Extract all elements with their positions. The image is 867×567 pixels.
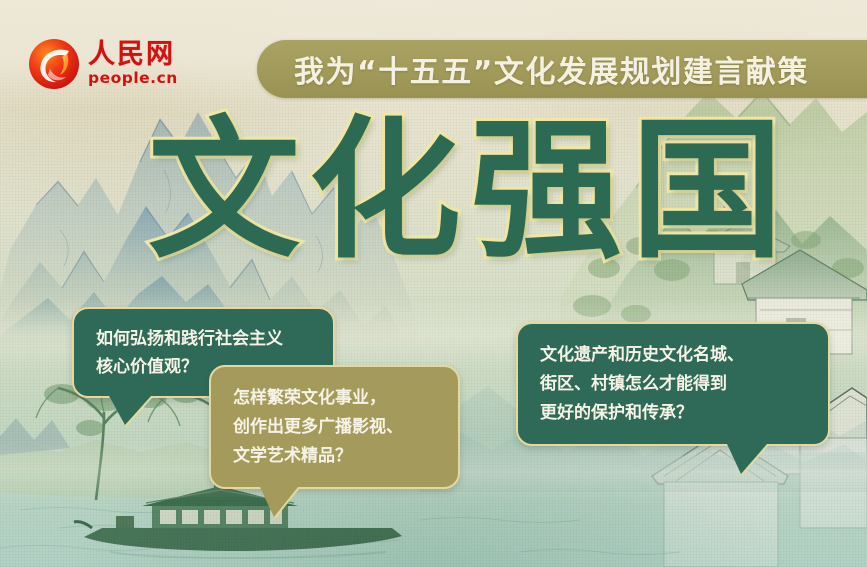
- bubble2-line2: 创作出更多广播影视、: [233, 413, 436, 442]
- question-bubble-cultural-works[interactable]: 怎样繁荣文化事业， 创作出更多广播影视、 文学艺术精品？: [209, 365, 460, 489]
- bubble3-line3: 更好的保护和传承？: [540, 399, 806, 428]
- campaign-banner-text: 我为“十五五”文化发展规划建言献策: [257, 47, 809, 91]
- publisher-logo[interactable]: 人民网 people.cn: [28, 36, 188, 92]
- bubble2-line1: 怎样繁荣文化事业，: [233, 384, 436, 413]
- people-cn-swirl-logo-icon: [28, 38, 80, 90]
- bubble3-line2: 街区、村镇怎么才能得到: [540, 370, 806, 399]
- logo-name-cn: 人民网: [88, 41, 178, 68]
- bubble3-tail: [727, 444, 767, 474]
- bubble3-line1: 文化遗产和历史文化名城、: [540, 341, 806, 370]
- bubble2-line3: 文学艺术精品？: [233, 442, 436, 471]
- campaign-banner: 我为“十五五”文化发展规划建言献策: [257, 40, 867, 98]
- bubble1-tail: [109, 396, 151, 425]
- poster-root: 人民网 people.cn 我为“十五五”文化发展规划建言献策 文化强国 如何弘…: [0, 0, 867, 567]
- question-bubble-heritage[interactable]: 文化遗产和历史文化名城、 街区、村镇怎么才能得到 更好的保护和传承？: [516, 322, 830, 446]
- bubble1-line1: 如何弘扬和践行社会主义: [96, 326, 311, 354]
- page-title: 文化强国: [148, 113, 792, 268]
- bubble2-tail: [260, 487, 298, 517]
- logo-name-en: people.cn: [88, 71, 178, 87]
